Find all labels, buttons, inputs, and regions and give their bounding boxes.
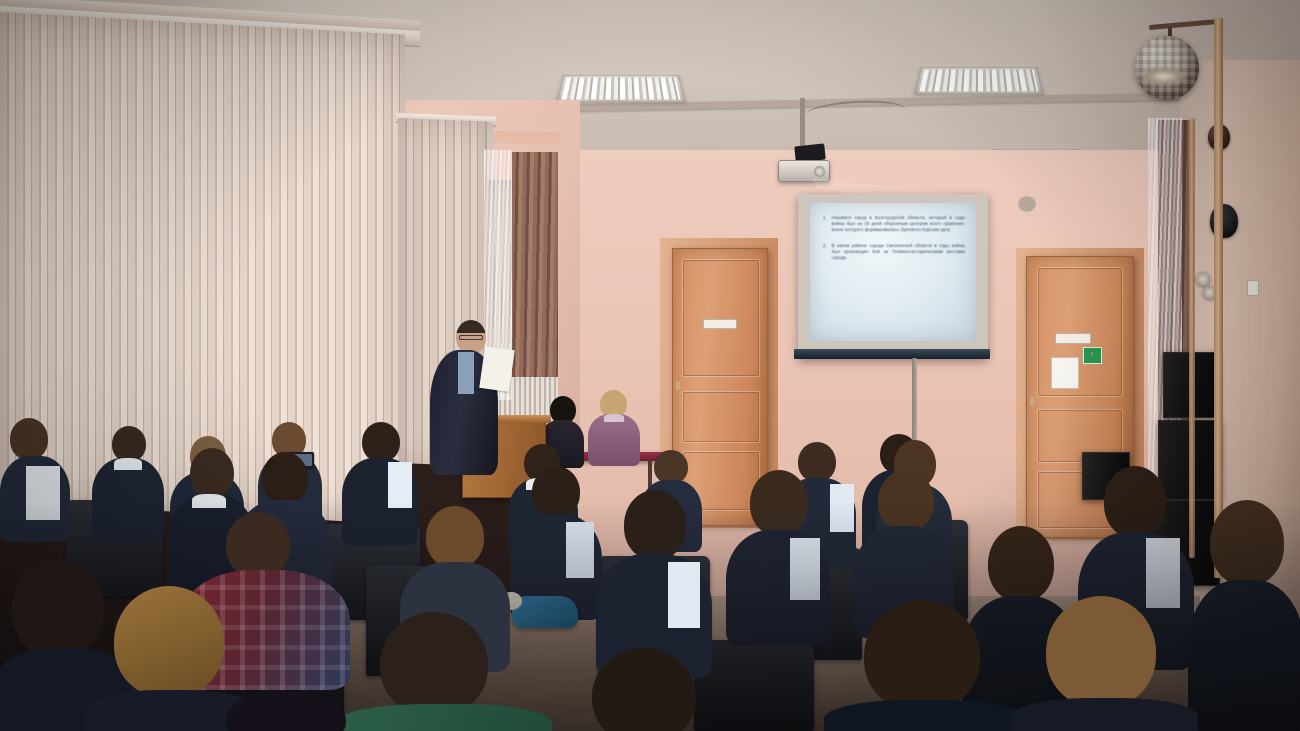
head [114, 586, 224, 698]
door-panel-upper [682, 259, 760, 377]
door-name-plate [703, 319, 737, 329]
head [864, 600, 980, 712]
slide-bullet-text: Назовите город в Белгородской области, к… [832, 215, 965, 234]
head [654, 450, 688, 484]
head [1046, 596, 1156, 708]
head [1210, 500, 1284, 586]
audience-row-middle-student-6 [596, 490, 712, 670]
jury-member-blonde [588, 390, 640, 464]
projection-screen-bottom-bar [794, 349, 990, 359]
torso [1012, 698, 1198, 731]
audience-row-front-student-5 [824, 600, 1024, 731]
mirror-ball [1135, 36, 1199, 100]
shirt-front [458, 352, 474, 394]
collar [114, 458, 142, 470]
door-handle-icon[interactable] [676, 381, 680, 390]
door-name-plate [1055, 333, 1091, 344]
wall-pipe-right [1214, 18, 1223, 578]
collar [192, 494, 226, 508]
ceiling-light-front-right [915, 67, 1044, 94]
head [262, 452, 308, 504]
fluorescent-tubes [919, 69, 1038, 91]
projector-lens-icon [814, 166, 825, 177]
shirt-sleeve [26, 466, 60, 520]
wall-switch-box[interactable] [1247, 280, 1259, 296]
shirt-sleeve [830, 484, 854, 532]
audience-right-front-3 [1188, 500, 1300, 731]
audience-row-front-student-4 [556, 648, 746, 731]
collar [604, 414, 624, 422]
door-panel-upper [1037, 267, 1123, 397]
head [226, 512, 290, 578]
corner-drape-left [512, 152, 558, 377]
head [532, 466, 580, 518]
shirt-sleeve [388, 462, 412, 508]
door-panel-middle [682, 391, 760, 443]
projector-mount-pole [800, 98, 805, 150]
head [624, 490, 686, 560]
head [112, 426, 146, 462]
torso [92, 458, 164, 542]
torso [1188, 580, 1300, 731]
shirt-sleeve [566, 522, 594, 578]
slide-bullet-text: В каком районе города Смоленской области… [832, 243, 965, 262]
head [380, 612, 488, 716]
wall-mounted-fixture [1018, 196, 1036, 212]
head [750, 470, 808, 536]
shirt-sleeve [790, 538, 820, 600]
audience-row-middle-student-7 [726, 470, 830, 642]
head [190, 448, 234, 498]
fluorescent-tubes [561, 77, 680, 99]
audience-row-rear-student-5 [0, 418, 70, 536]
mirror-ball-glint [1140, 67, 1187, 86]
eyeglasses-icon [459, 335, 483, 340]
audience-row-front-student-6 [1012, 596, 1198, 731]
door-handle-icon[interactable] [1030, 397, 1034, 406]
slide-bullet-number: 1. [823, 215, 827, 234]
wall-lamp-globe-upper [1196, 272, 1210, 286]
head [988, 526, 1054, 602]
slide-bullet-number: 2. [823, 243, 827, 262]
projection-screen-surface: 1. Назовите город в Белгородской области… [810, 203, 976, 341]
projection-screen: 1. Назовите город в Белгородской области… [798, 194, 988, 359]
ceiling-mounted-projector [778, 160, 830, 182]
exit-running-man-icon: 🚶 [1088, 352, 1097, 359]
exit-sign: 🚶 [1083, 347, 1102, 364]
head [426, 506, 484, 568]
slide-bullet: 2. В каком районе города Смоленской обла… [823, 243, 965, 262]
torso [824, 700, 1024, 731]
presenter-speech-paper [479, 346, 515, 392]
slide-bullet: 1. Назовите город в Белгородской области… [823, 215, 965, 234]
head [226, 690, 346, 731]
paper-notice [1051, 357, 1079, 389]
head [362, 422, 400, 462]
head [878, 470, 934, 532]
photograph-assembly-hall: 1. Назовите город в Белгородской области… [0, 0, 1300, 731]
ceiling-light-front-left [557, 75, 686, 102]
head [592, 648, 696, 731]
head [1104, 466, 1166, 538]
audience-row-front-student-7 [200, 690, 380, 731]
shirt-sleeve [668, 562, 700, 628]
audience-row-middle-student-5 [510, 466, 602, 616]
head [10, 418, 48, 460]
audience-row-rear-student-1 [92, 426, 164, 536]
presenter-at-podium [428, 320, 500, 480]
